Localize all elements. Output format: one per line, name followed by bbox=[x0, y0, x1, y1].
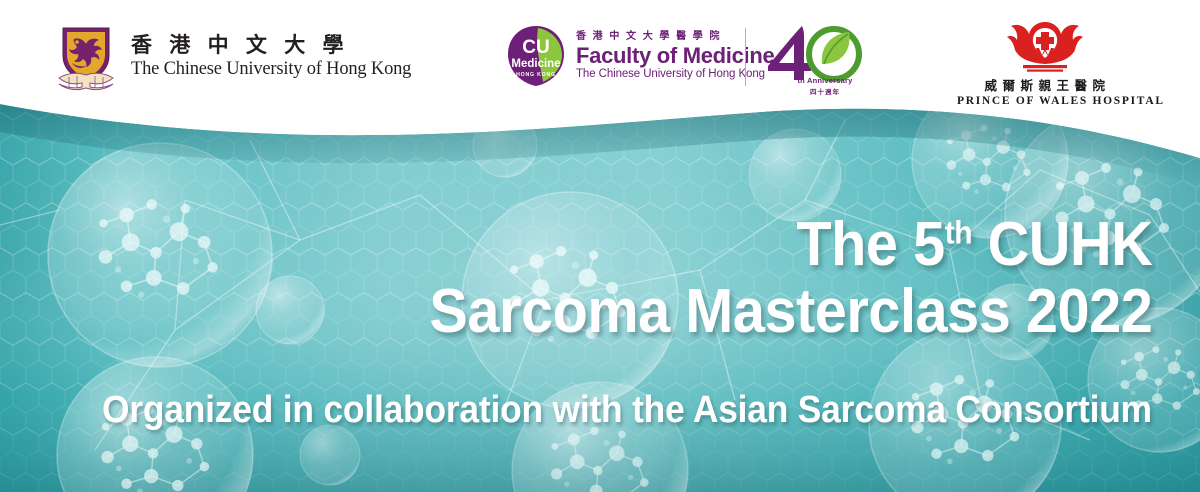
event-title-line-1: The 5th CUHK bbox=[429, 212, 1152, 279]
event-title-line-2: Sarcoma Masterclass 2022 bbox=[429, 279, 1152, 346]
logo-prince-of-wales-hospital[interactable]: 威爾斯親王醫院 PRINCE OF WALES HOSPITAL bbox=[955, 18, 1135, 107]
svg-text:HONG KONG: HONG KONG bbox=[516, 72, 556, 78]
pwh-name-zh: 威爾斯親王醫院 bbox=[960, 75, 1135, 94]
conference-banner: 香 港 中 文 大 學 The Chinese University of Ho… bbox=[0, 0, 1200, 492]
svg-text:Medicine: Medicine bbox=[511, 58, 560, 70]
logo-header: 香 港 中 文 大 學 The Chinese University of Ho… bbox=[0, 0, 1200, 120]
cuhk-name-en: The Chinese University of Hong Kong bbox=[131, 60, 411, 79]
anniversary-40-icon bbox=[764, 24, 862, 82]
cuhk-name-zh: 香 港 中 文 大 學 bbox=[131, 35, 411, 56]
anniversary-caption-zh: 四十週年 bbox=[780, 86, 870, 96]
cuhk-crest-icon bbox=[55, 22, 117, 92]
logo-anniversary-40[interactable]: th Anniversary 四十週年 bbox=[758, 24, 870, 100]
svg-text:CU: CU bbox=[522, 37, 549, 58]
event-title-pre: The 5 bbox=[796, 210, 944, 279]
logo-cuhk[interactable]: 香 港 中 文 大 學 The Chinese University of Ho… bbox=[55, 22, 411, 92]
event-subtitle: Organized in collaboration with the Asia… bbox=[102, 390, 1152, 432]
pwh-crown-icon bbox=[1003, 18, 1087, 72]
anniversary-caption-en: th Anniversary bbox=[780, 76, 870, 85]
event-title-post: CUHK bbox=[972, 210, 1152, 279]
pwh-name-en: PRINCE OF WALES HOSPITAL bbox=[957, 95, 1135, 107]
logo-cu-medicine[interactable]: CU Medicine HONG KONG 香 港 中 文 大 學 醫 學 院 … bbox=[505, 23, 774, 89]
cu-medicine-mark-icon: CU Medicine HONG KONG bbox=[505, 23, 567, 89]
event-title-ordinal-suffix: th bbox=[944, 214, 971, 250]
logo-divider bbox=[745, 28, 746, 86]
event-title: The 5th CUHK Sarcoma Masterclass 2022 bbox=[375, 212, 1152, 346]
